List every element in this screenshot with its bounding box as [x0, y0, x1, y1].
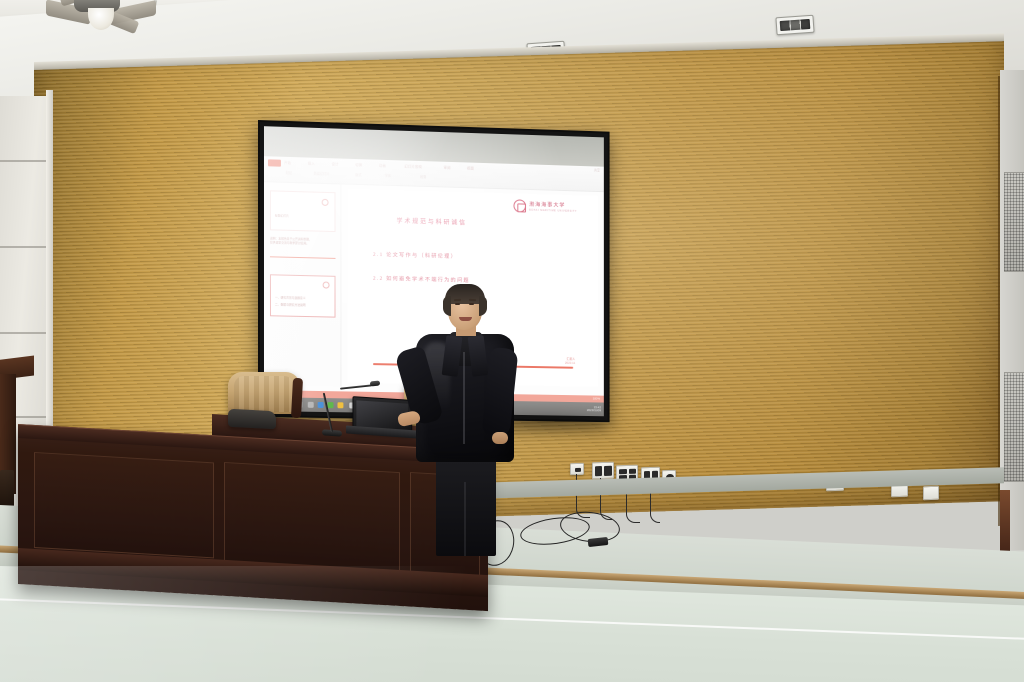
presenter-hair-side	[479, 296, 487, 316]
ribbon-tab-2[interactable]: 设计	[332, 161, 339, 167]
ribbon-tab-5[interactable]: 幻灯片放映	[404, 164, 422, 170]
crest-university-sub: BOHAI MARITIME UNIVERSITY	[529, 209, 577, 213]
presenter-trouser-seam	[464, 482, 466, 556]
ribbon-tab-1[interactable]: 插入	[308, 161, 315, 167]
network-plate-3[interactable]	[923, 486, 939, 500]
perforated-acoustic-panel	[1004, 372, 1024, 482]
presenter-right-hand	[492, 432, 508, 444]
desk-front-panel	[34, 452, 214, 558]
slide-thumbnail-panel[interactable]: 标题幻灯片 一、研究背景与选题意义 二、数据与研究方法说明 说明：本报告基于公开…	[264, 182, 341, 386]
presenter-eye	[455, 303, 460, 305]
ceiling-fan	[0, 0, 190, 40]
crest-seal-icon	[322, 199, 329, 206]
crest-university-name: 渤海海事大学	[529, 201, 577, 209]
jacket-zipper	[463, 352, 465, 444]
status-zoom-level[interactable]: 100%	[593, 396, 600, 400]
slide-thumbnail-2-line-2: 二、数据与研究方法说明	[275, 302, 306, 307]
wechat-icon[interactable]	[328, 402, 334, 408]
browser-icon[interactable]	[318, 401, 324, 407]
slide-bullet-1: 2.1 论文写作与（科研伦理）	[373, 251, 457, 260]
ribbon-tool-paragraph[interactable]: 段落	[420, 174, 426, 180]
crest-seal-icon	[323, 282, 330, 289]
ribbon-tab-7[interactable]: 视图	[467, 165, 474, 171]
slide-thumbnail-1[interactable]: 标题幻灯片	[270, 190, 336, 232]
presenter-trousers	[436, 456, 496, 556]
lecture-hall-photo: 开始 插入 设计 切换 动画 幻灯片放映 审阅 视图 粘贴 新建幻灯片 版式 字…	[0, 0, 1024, 682]
slide-panel-divider	[270, 256, 336, 259]
chair-arm	[291, 378, 303, 418]
desk-front-panel	[224, 462, 400, 572]
crest-seal-icon	[514, 199, 527, 212]
floor-object-left	[0, 470, 14, 510]
ribbon-tab-0[interactable]: 开始	[284, 160, 291, 166]
perforated-acoustic-panel	[1004, 172, 1024, 272]
task-view-icon[interactable]	[308, 401, 314, 407]
ribbon-tab-4[interactable]: 动画	[379, 163, 386, 169]
slide-left-note: 说明：本报告基于公开资料整理， 仅供课堂交流与教学研讨使用。	[270, 236, 312, 245]
slide-thumbnail-1-line: 标题幻灯片	[275, 213, 289, 217]
ribbon-tool-layout[interactable]: 版式	[355, 172, 361, 178]
slide-footnote: 汇报人 2023.11	[565, 357, 575, 365]
slide-title: 学术规范与科研诚信	[397, 216, 467, 227]
fan-light-globe	[88, 8, 114, 30]
presenter-mouth	[459, 317, 472, 321]
handbag	[228, 409, 276, 430]
executive-chair-left	[228, 372, 300, 414]
folder-icon[interactable]	[337, 402, 343, 408]
power-outlet-box-1[interactable]	[592, 462, 614, 480]
app-file-menu-button[interactable]	[268, 159, 281, 166]
downlight-icon	[775, 15, 814, 36]
ribbon-tool-font[interactable]: 字体	[385, 173, 391, 179]
ribbon-tool-paste[interactable]: 粘贴	[286, 170, 292, 176]
slide-thumbnail-2-line-1: 一、研究背景与选题意义	[275, 295, 306, 300]
presenter-hair-side	[443, 296, 451, 316]
presenter	[396, 282, 522, 556]
ribbon-tab-3[interactable]: 切换	[355, 162, 362, 168]
university-crest: 渤海海事大学 BOHAI MARITIME UNIVERSITY	[514, 199, 577, 214]
ribbon-tab-6[interactable]: 审阅	[444, 165, 451, 171]
ribbon-share-area[interactable]: 共享	[567, 168, 600, 174]
right-wall-dark-trim	[1000, 490, 1010, 558]
presenter-eye	[469, 303, 474, 305]
ribbon-tool-newslide[interactable]: 新建幻灯片	[314, 171, 330, 177]
slide-thumbnail-2[interactable]: 一、研究背景与选题意义 二、数据与研究方法说明	[270, 274, 336, 317]
